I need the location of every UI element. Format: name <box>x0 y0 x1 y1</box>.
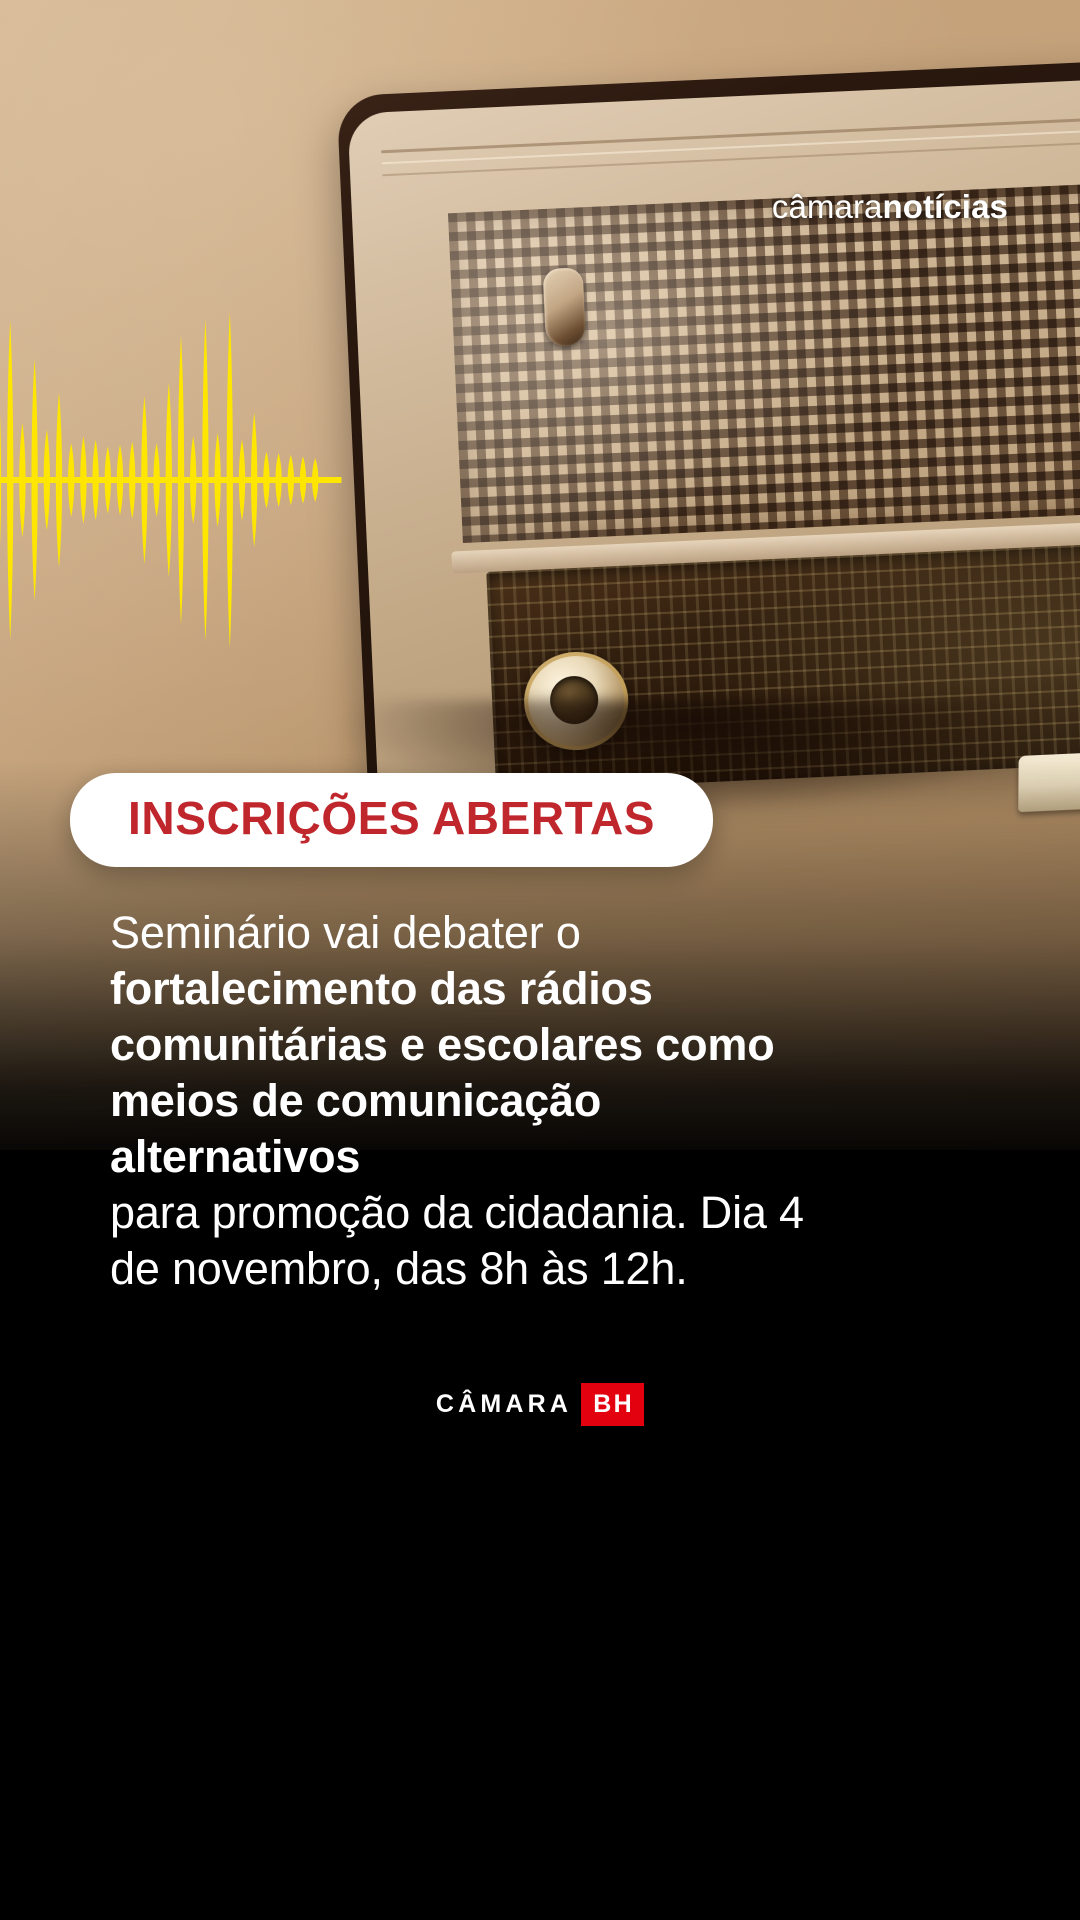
waveform-bar <box>92 440 98 521</box>
vintage-radio-cabinet <box>337 60 1080 795</box>
waveform-bar <box>44 430 50 531</box>
waveform-bar <box>141 396 147 564</box>
waveform-bar <box>117 445 123 516</box>
waveform-bars <box>0 312 341 648</box>
waveform-bar <box>251 413 257 547</box>
copy-line-1: Seminário vai debater o <box>110 907 581 958</box>
waveform-bar <box>312 458 318 502</box>
logo-bh-badge: BH <box>581 1383 644 1426</box>
camara-noticias-wordmark: câmaranotícias <box>772 190 1008 223</box>
waveform-bar <box>129 441 135 518</box>
waveform-bar <box>68 443 74 517</box>
logo-camara-text: CÂMARA <box>436 1392 581 1417</box>
status-badge: INSCRIÇÕES ABERTAS <box>70 773 713 867</box>
waveform-bar <box>0 376 1 584</box>
waveform-bar <box>153 443 159 517</box>
waveform-bar <box>190 436 196 523</box>
speaker-grille <box>448 180 1080 543</box>
audio-waveform-icon <box>0 300 354 660</box>
wordmark-light-part: câmara <box>772 188 883 225</box>
waveform-bar <box>80 436 86 523</box>
waveform-bar <box>178 336 184 625</box>
poster-canvas: câmaranotícias INSCRIÇÕES ABERTAS Seminá… <box>0 0 1080 1920</box>
waveform-bar <box>202 319 208 642</box>
copy-line-6: de novembro, das 8h às 12h. <box>110 1243 688 1294</box>
copy-line-2: fortalecimento das rádios <box>110 963 653 1014</box>
waveform-bar <box>214 433 220 527</box>
waveform-bar <box>288 455 294 505</box>
waveform-bar <box>56 393 62 568</box>
waveform-bar <box>239 440 245 521</box>
status-badge-label: INSCRIÇÕES ABERTAS <box>128 795 655 841</box>
waveform-bar <box>105 446 111 513</box>
waveform-bar <box>227 312 233 648</box>
waveform-bar <box>263 451 269 508</box>
waveform-bar <box>19 423 25 537</box>
grille-highlight <box>448 180 1080 543</box>
copy-line-4: meios de comunicação alternativos <box>110 1075 601 1182</box>
radio-emblem-icon <box>543 267 586 347</box>
wordmark-bold-part: notícias <box>882 188 1008 225</box>
headline-copy: Seminário vai debater o fortalecimento d… <box>110 905 840 1297</box>
copy-line-3: comunitárias e escolares como <box>110 1019 775 1070</box>
waveform-bar <box>166 383 172 578</box>
copy-line-5: para promoção da cidadania. Dia 4 <box>110 1187 804 1238</box>
waveform-bar <box>31 359 37 601</box>
footer-logo: CÂMARA BH <box>0 1383 1080 1426</box>
waveform-bar <box>275 453 281 507</box>
waveform-bar <box>7 320 13 639</box>
waveform-bar <box>300 456 306 503</box>
radio-front-panel <box>347 77 1080 795</box>
